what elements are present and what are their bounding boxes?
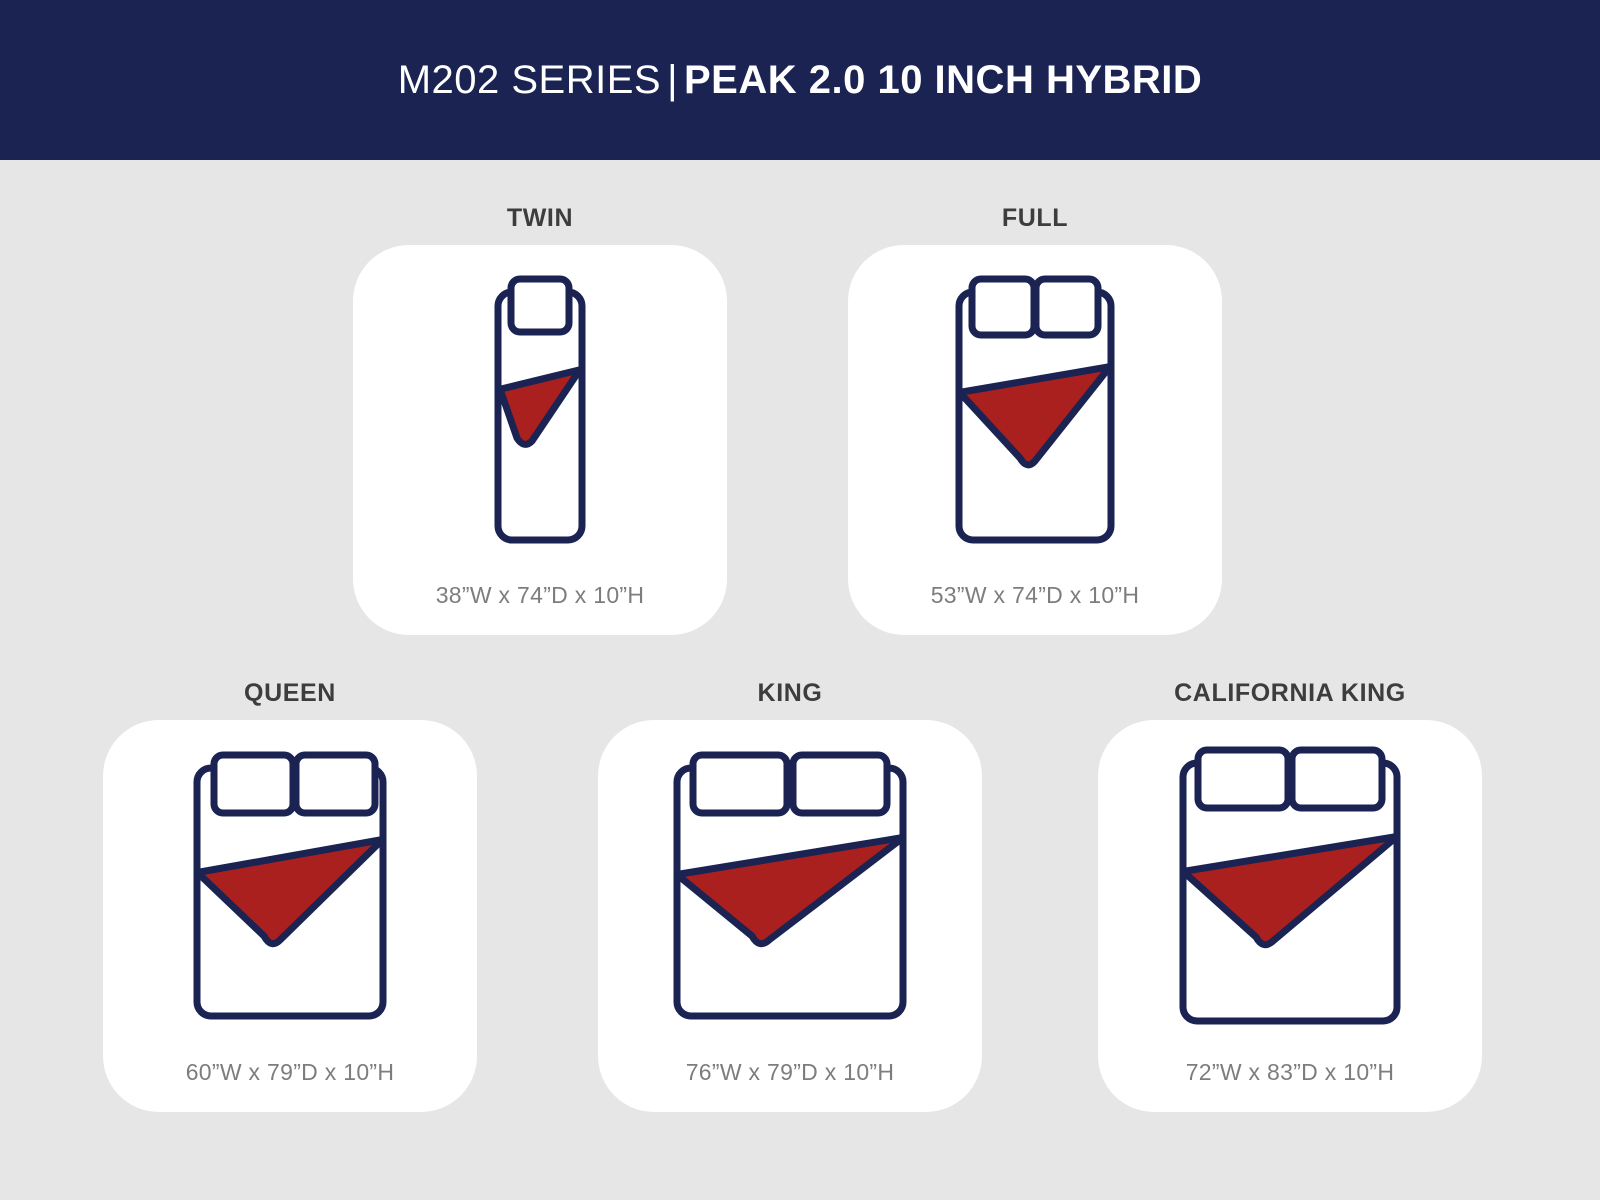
size-chart-grid: TWIN 38”W x 74”D x 10”H FULL bbox=[0, 160, 1600, 1200]
bed-twin-icon bbox=[460, 274, 620, 554]
size-card-queen[interactable]: 60”W x 79”D x 10”H bbox=[103, 720, 477, 1112]
bed-queen-icon bbox=[175, 750, 405, 1030]
page-title: M202 SERIES | PEAK 2.0 10 INCH HYBRID bbox=[398, 58, 1203, 103]
bed-california-king-icon bbox=[1165, 745, 1415, 1035]
size-cell-full: FULL 53”W x 74”D x 10”H bbox=[848, 204, 1222, 635]
size-dimensions-king: 76”W x 79”D x 10”H bbox=[686, 1059, 895, 1086]
size-label-queen: QUEEN bbox=[103, 679, 477, 708]
size-dimensions-california-king: 72”W x 83”D x 10”H bbox=[1186, 1059, 1395, 1086]
header-product-label: PEAK 2.0 10 INCH HYBRID bbox=[684, 58, 1202, 103]
size-label-king: KING bbox=[598, 679, 982, 708]
bed-illustration-full bbox=[848, 245, 1222, 582]
size-card-california-king[interactable]: 72”W x 83”D x 10”H bbox=[1098, 720, 1482, 1112]
size-dimensions-twin: 38”W x 74”D x 10”H bbox=[436, 582, 645, 609]
size-label-twin: TWIN bbox=[353, 204, 727, 233]
size-label-full: FULL bbox=[848, 204, 1222, 233]
header-separator: | bbox=[661, 58, 684, 103]
size-cell-california-king: CALIFORNIA KING 72”W x 83”D x 10”H bbox=[1098, 679, 1482, 1112]
size-dimensions-full: 53”W x 74”D x 10”H bbox=[931, 582, 1140, 609]
bed-illustration-california-king bbox=[1098, 720, 1482, 1059]
size-card-king[interactable]: 76”W x 79”D x 10”H bbox=[598, 720, 982, 1112]
size-label-california-king: CALIFORNIA KING bbox=[1098, 679, 1482, 708]
bed-illustration-king bbox=[598, 720, 982, 1059]
bed-full-icon bbox=[935, 274, 1135, 554]
bed-illustration-twin bbox=[353, 245, 727, 582]
size-cell-queen: QUEEN 60”W x 79”D x 10”H bbox=[103, 679, 477, 1112]
size-cell-king: KING 76”W x 79”D x 10”H bbox=[598, 679, 982, 1112]
size-dimensions-queen: 60”W x 79”D x 10”H bbox=[186, 1059, 395, 1086]
size-card-full[interactable]: 53”W x 74”D x 10”H bbox=[848, 245, 1222, 635]
bed-king-icon bbox=[659, 750, 921, 1030]
bed-illustration-queen bbox=[103, 720, 477, 1059]
page-header: M202 SERIES | PEAK 2.0 10 INCH HYBRID bbox=[0, 0, 1600, 160]
size-card-twin[interactable]: 38”W x 74”D x 10”H bbox=[353, 245, 727, 635]
size-cell-twin: TWIN 38”W x 74”D x 10”H bbox=[353, 204, 727, 635]
header-series-label: M202 SERIES bbox=[398, 58, 661, 103]
